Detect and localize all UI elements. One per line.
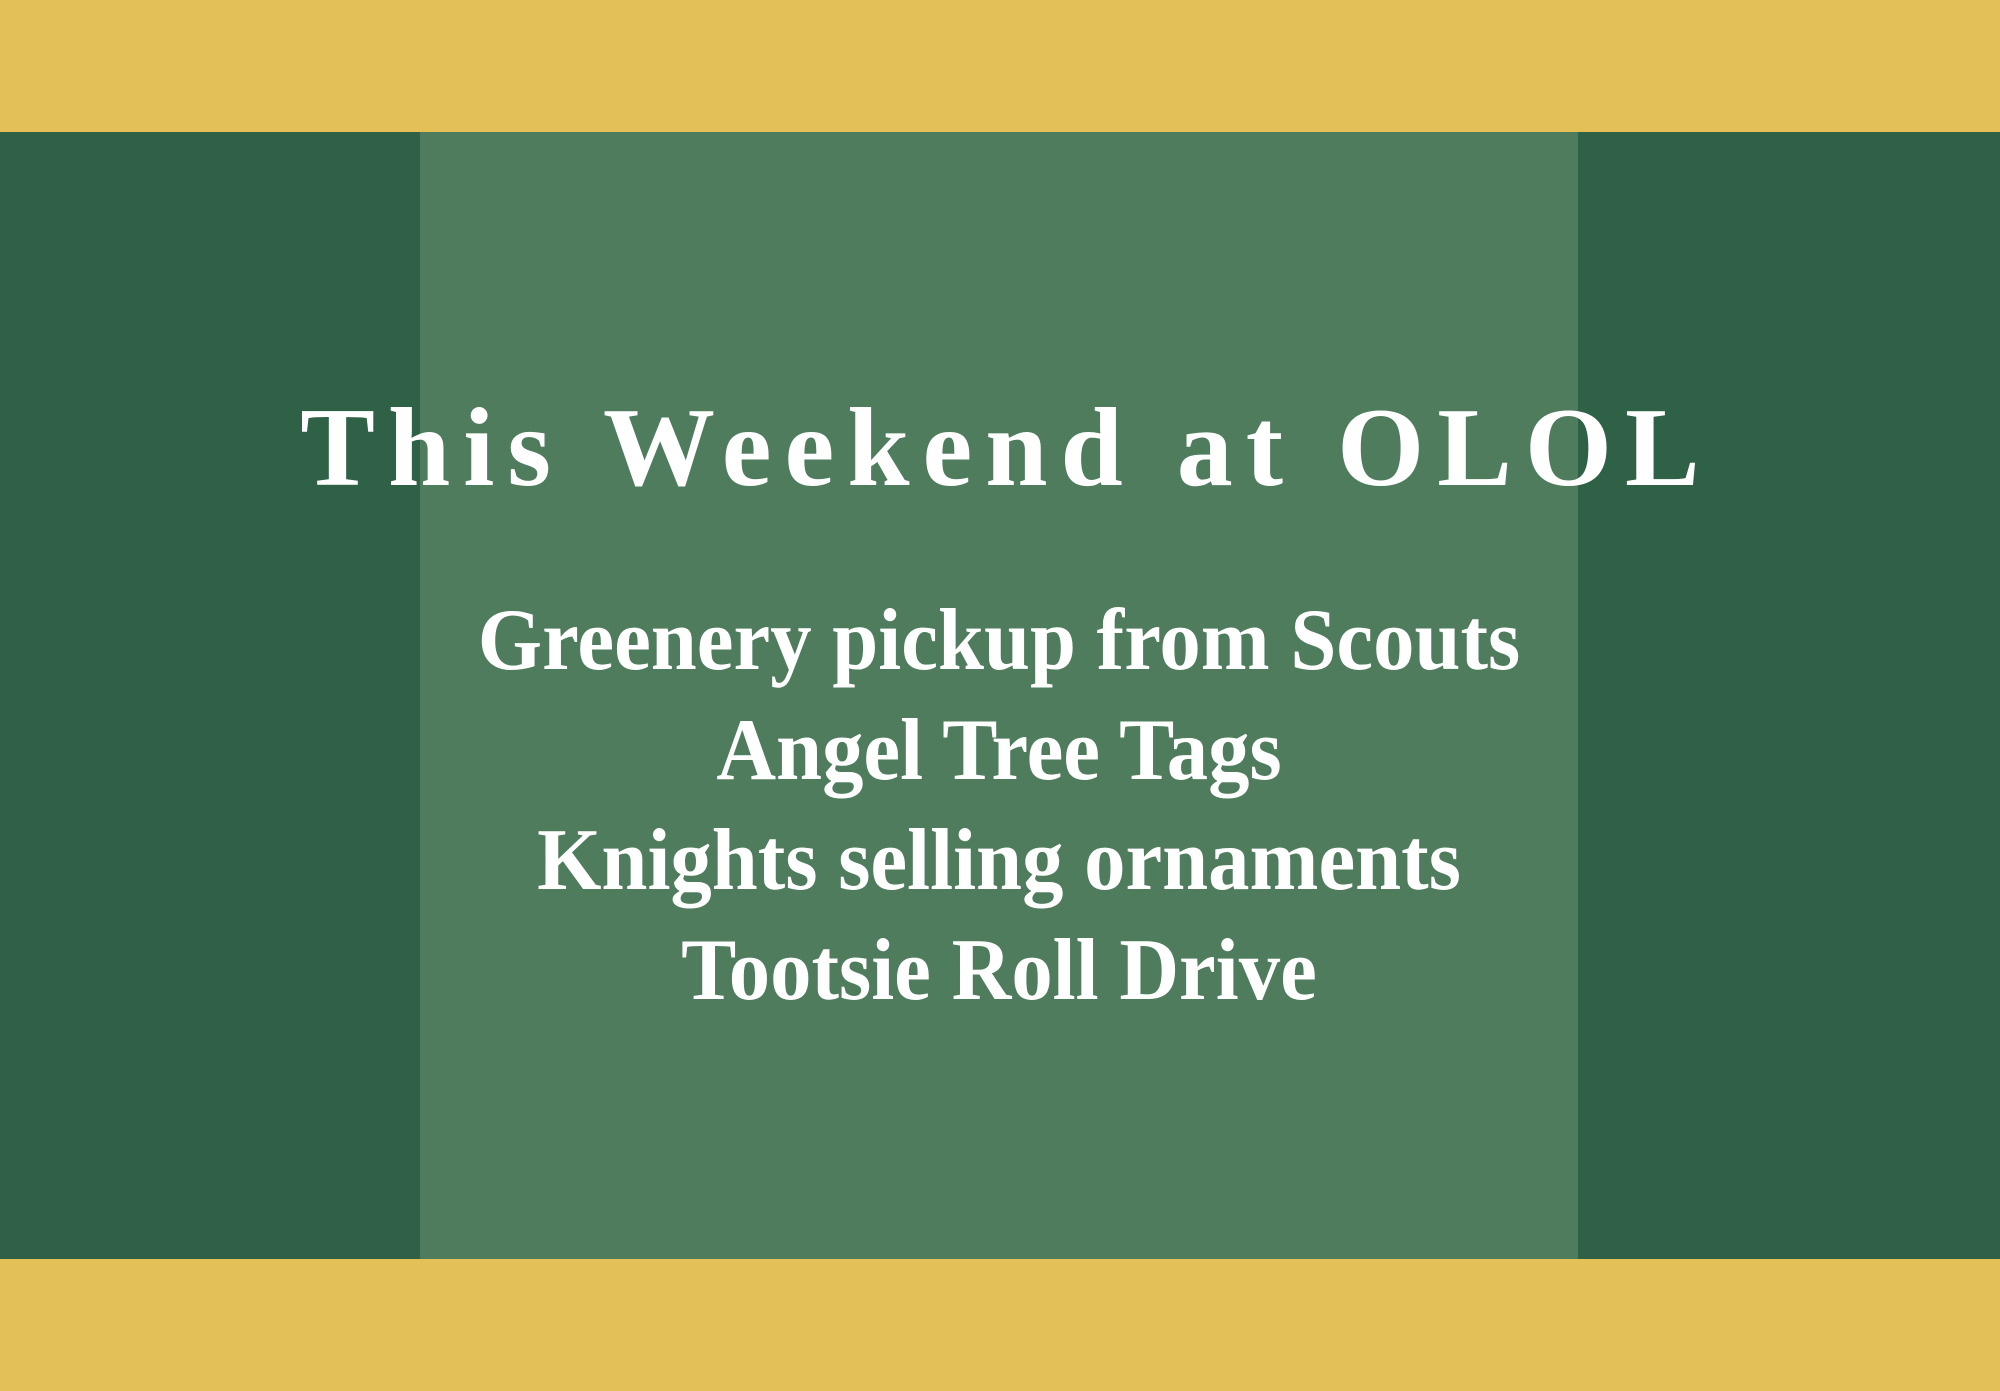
event-list-item-4: Tootsie Roll Drive (455, 916, 1544, 1026)
event-list-item-1: Greenery pickup from Scouts (455, 586, 1544, 696)
poster-content: This Weekend at OLOL Greenery pickup fro… (0, 0, 2000, 1391)
poster-canvas: This Weekend at OLOL Greenery pickup fro… (0, 0, 2000, 1391)
event-list-item-3: Knights selling ornaments (455, 806, 1544, 916)
event-list-item-2: Angel Tree Tags (455, 696, 1544, 806)
event-list: Greenery pickup from Scouts Angel Tree T… (420, 586, 1578, 1026)
page-title: This Weekend at OLOL (0, 392, 2000, 504)
